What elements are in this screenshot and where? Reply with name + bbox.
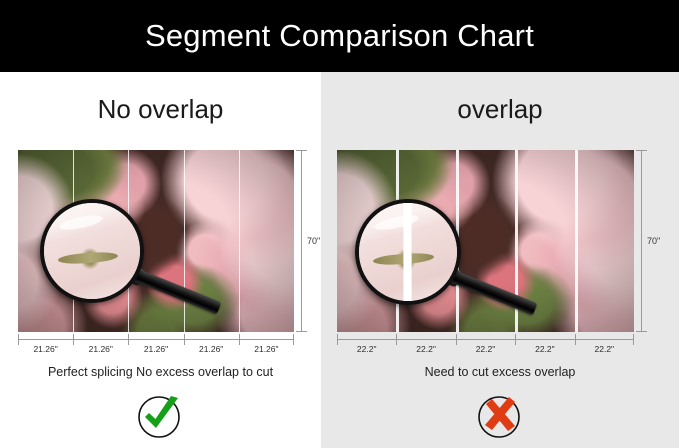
red-cross-icon xyxy=(474,390,526,442)
magnifier-lens xyxy=(40,199,144,303)
title-bar: Segment Comparison Chart xyxy=(0,0,679,72)
green-check-icon xyxy=(135,390,187,442)
segment-photo-no-overlap xyxy=(18,150,294,332)
magnified-leaf xyxy=(57,251,117,265)
floral-photo xyxy=(337,150,634,332)
dimension-line xyxy=(641,150,642,332)
segment-width-label: 22.2" xyxy=(396,341,455,357)
segment-width-label: 21.26" xyxy=(73,341,128,357)
panel-heading-no-overlap: No overlap xyxy=(0,94,321,125)
segment-width-label: 21.26" xyxy=(18,341,73,357)
magnifier-lens-content xyxy=(44,203,140,299)
comparison-panels: No overlap xyxy=(0,72,679,448)
segment-divider xyxy=(239,150,240,332)
height-dimension-no-overlap: 70" xyxy=(296,150,322,332)
ruler-line xyxy=(18,339,294,340)
dimension-cap-bottom xyxy=(636,331,647,332)
ruler-line xyxy=(337,339,634,340)
caption-overlap: Need to cut excess overlap xyxy=(321,365,679,379)
magnifier-icon xyxy=(355,199,461,305)
width-ruler-no-overlap: 21.26" 21.26" 21.26" 21.26" 21.26" xyxy=(18,334,294,358)
panel-overlap: overlap xyxy=(321,72,679,448)
magnifier-icon xyxy=(40,199,144,303)
magnifier-lens xyxy=(355,199,461,305)
floral-photo xyxy=(18,150,294,332)
panel-heading-overlap: overlap xyxy=(321,94,679,125)
magnified-seam xyxy=(404,203,411,301)
lens-glint xyxy=(374,212,420,232)
segment-photo-overlap xyxy=(337,150,634,332)
segment-divider xyxy=(184,150,185,332)
dimension-cap-bottom xyxy=(296,331,307,332)
page-title: Segment Comparison Chart xyxy=(145,18,534,54)
height-label: 70" xyxy=(647,236,660,246)
height-label: 70" xyxy=(307,236,320,246)
magnifier-lens-content xyxy=(359,203,457,301)
panel-no-overlap: No overlap xyxy=(0,72,321,448)
segment-width-label: 22.2" xyxy=(575,341,634,357)
segment-width-label: 22.2" xyxy=(456,341,515,357)
segment-divider xyxy=(575,150,578,332)
segment-width-label: 22.2" xyxy=(337,341,396,357)
segment-width-label: 21.26" xyxy=(184,341,239,357)
height-dimension-overlap: 70" xyxy=(636,150,662,332)
width-ruler-overlap: 22.2" 22.2" 22.2" 22.2" 22.2" xyxy=(337,334,634,358)
segment-width-label: 22.2" xyxy=(515,341,574,357)
segment-width-label: 21.26" xyxy=(128,341,183,357)
dimension-line xyxy=(301,150,302,332)
caption-no-overlap: Perfect splicing No excess overlap to cu… xyxy=(0,365,321,379)
segment-width-label: 21.26" xyxy=(239,341,294,357)
lens-glint xyxy=(59,212,104,231)
